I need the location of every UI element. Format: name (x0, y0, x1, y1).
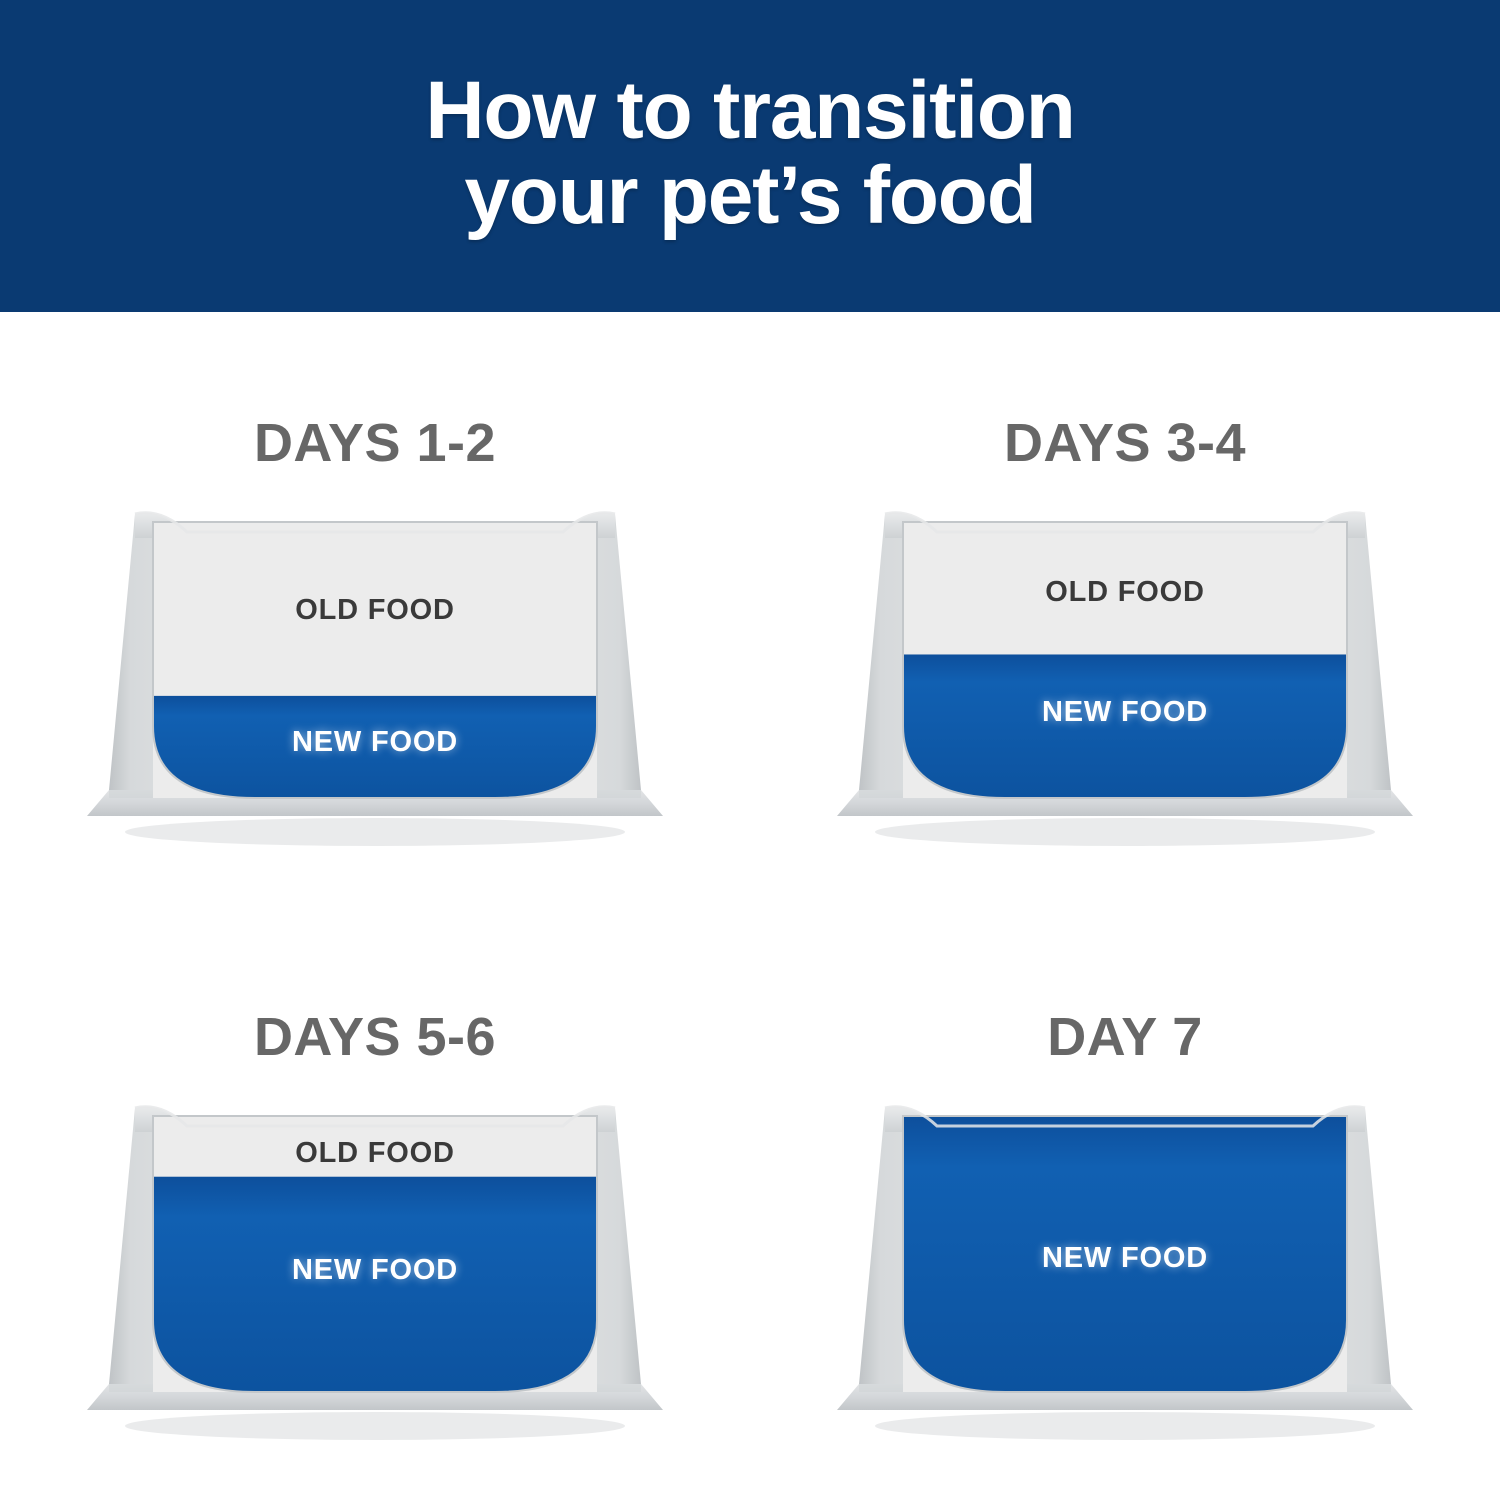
stage-card-day-7: DAY 7 OLD FOOD NEW FOOD (750, 906, 1500, 1500)
bowl-days-5-6: OLD FOOD NEW FOOD (65, 1092, 685, 1458)
page-title-line-1: How to transition (425, 68, 1074, 153)
stage-label-day-7: DAY 7 (1047, 1010, 1203, 1064)
bowl-graphic (65, 498, 685, 864)
page-title-line-2: your pet’s food (425, 153, 1074, 238)
new-food-fill (145, 696, 605, 806)
stage-card-days-5-6: DAYS 5-6 OLD FOOD NEW FOOD (0, 906, 750, 1500)
stage-card-days-1-2: DAYS 1-2 (0, 312, 750, 906)
bowl-graphic (815, 498, 1435, 864)
new-food-fill (895, 1116, 1355, 1400)
bowl-day-7: OLD FOOD NEW FOOD (815, 1092, 1435, 1458)
stage-label-days-1-2: DAYS 1-2 (254, 416, 496, 470)
new-food-fill (895, 654, 1355, 806)
page-title: How to transition your pet’s food (425, 68, 1074, 239)
bowl-days-1-2: OLD FOOD NEW FOOD (65, 498, 685, 864)
stage-label-days-3-4: DAYS 3-4 (1004, 416, 1246, 470)
bowl-graphic (65, 1092, 685, 1458)
new-food-fill (145, 1177, 605, 1400)
stage-card-days-3-4: DAYS 3-4 OLD FOOD NEW FOOD (750, 312, 1500, 906)
bowl-graphic (815, 1092, 1435, 1458)
bowl-stages-grid: DAYS 1-2 (0, 312, 1500, 1500)
stage-label-days-5-6: DAYS 5-6 (254, 1010, 496, 1064)
bowl-days-3-4: OLD FOOD NEW FOOD (815, 498, 1435, 864)
header-banner: How to transition your pet’s food (0, 0, 1500, 312)
